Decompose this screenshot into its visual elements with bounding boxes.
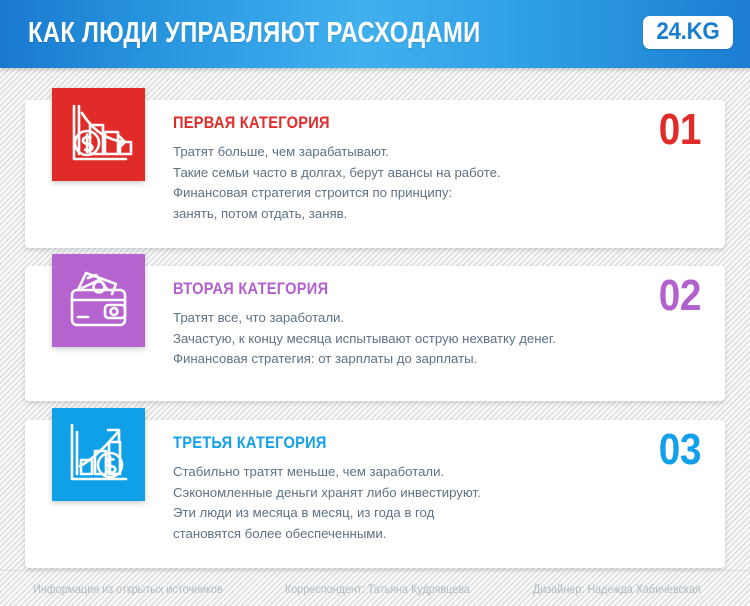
- footer-correspondent: Корреспондент: Татьяна Кудрявцева: [285, 582, 470, 596]
- card-number: 01: [659, 108, 701, 152]
- card-title: ТРЕТЬЯ КАТЕГОРИЯ: [173, 433, 327, 453]
- card-line: Финансовая стратегия строится по принцип…: [173, 183, 501, 204]
- footer-source: Информация из открытых источников: [33, 582, 223, 596]
- declining-bar-chart-dollar-icon: [52, 88, 145, 181]
- rising-bar-chart-dollar-icon: [52, 408, 145, 501]
- card-description: Стабильно тратят меньше, чем заработали.…: [173, 462, 481, 544]
- card-description: Тратят больше, чем зарабатывают. Такие с…: [173, 142, 501, 224]
- card-line: становятся более обеспеченными.: [173, 524, 481, 545]
- logo-text: 24.KG: [657, 20, 720, 44]
- logo-badge[interactable]: 24.KG: [643, 16, 733, 49]
- card-title: ВТОРАЯ КАТЕГОРИЯ: [173, 279, 328, 299]
- infographic-page: КАК ЛЮДИ УПРАВЛЯЮТ РАСХОДАМИ 24.KG: [0, 0, 750, 606]
- card-line: Сэкономленные деньги хранят либо инвести…: [173, 483, 481, 504]
- card-line: Тратят все, что заработали.: [173, 308, 556, 329]
- card-line: Зачастую, к концу месяца испытывают остр…: [173, 329, 556, 350]
- category-card-1: ПЕРВАЯ КАТЕГОРИЯ Тратят больше, чем зара…: [25, 100, 725, 248]
- card-line: Финансовая стратегия: от зарплаты до зар…: [173, 349, 556, 370]
- page-title: КАК ЛЮДИ УПРАВЛЯЮТ РАСХОДАМИ: [28, 17, 481, 50]
- card-number: 03: [659, 428, 701, 472]
- category-card-3: ТРЕТЬЯ КАТЕГОРИЯ Стабильно тратят меньше…: [25, 420, 725, 568]
- card-line: Эти люди из месяца в месяц, из года в го…: [173, 503, 481, 524]
- card-line: Стабильно тратят меньше, чем заработали.: [173, 462, 481, 483]
- card-line: занять, потом отдать, заняв.: [173, 204, 501, 225]
- category-card-2: ВТОРАЯ КАТЕГОРИЯ Тратят все, что заработ…: [25, 266, 725, 401]
- card-line: Тратят больше, чем зарабатывают.: [173, 142, 501, 163]
- footer-designer: Дизайнер: Надежда Хабичевская: [533, 582, 701, 596]
- card-number: 02: [659, 274, 701, 318]
- card-line: Такие семьи часто в долгах, берут авансы…: [173, 163, 501, 184]
- page-header: КАК ЛЮДИ УПРАВЛЯЮТ РАСХОДАМИ 24.KG: [0, 0, 750, 68]
- page-footer: Информация из открытых источников Коррес…: [0, 570, 750, 606]
- card-description: Тратят все, что заработали. Зачастую, к …: [173, 308, 556, 370]
- wallet-with-banknotes-icon: [52, 254, 145, 347]
- card-title: ПЕРВАЯ КАТЕГОРИЯ: [173, 113, 330, 133]
